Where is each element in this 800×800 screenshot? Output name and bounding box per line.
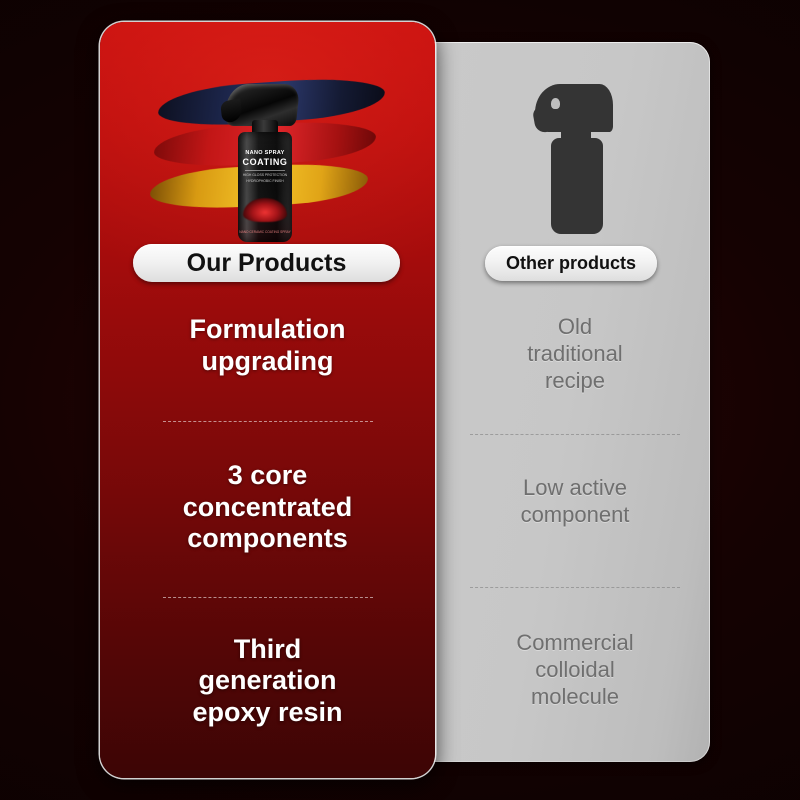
- bottle-car-graphic: [243, 198, 287, 222]
- other-feature-item-1: Old traditional recipe: [440, 314, 710, 394]
- bottle-body: NANO SPRAY COATING HIGH GLOSS PROTECTION…: [238, 132, 292, 242]
- bottle-label-line2: COATING: [238, 157, 292, 167]
- product-bottle-image: NANO SPRAY COATING HIGH GLOSS PROTECTION…: [234, 84, 296, 242]
- our-products-badge: Our Products: [133, 244, 400, 282]
- our-feature-item-2: 3 core concentrated components: [100, 460, 435, 555]
- our-feature-item-3: Third generation epoxy resin: [100, 634, 435, 729]
- our-feature-item-1: Formulation upgrading: [100, 314, 435, 377]
- bottle-label-line1: NANO SPRAY: [238, 150, 292, 156]
- our-feature-line: Formulation upgrading: [100, 314, 435, 377]
- spray-bottle-icon: [535, 84, 621, 234]
- product-hero: NANO SPRAY COATING HIGH GLOSS PROTECTION…: [100, 22, 435, 250]
- other-features-list: Old traditional recipe Low active compon…: [440, 314, 710, 711]
- our-features-list: Formulation upgrading 3 core concentrate…: [100, 314, 435, 729]
- other-feature-item-3: Commercial colloidal molecule: [440, 630, 710, 710]
- bottle-label-rule: [245, 170, 285, 171]
- other-feature-line: Commercial colloidal molecule: [440, 630, 710, 710]
- bottle-label-footer: NANO CERAMIC COATING SPRAY: [238, 230, 292, 234]
- other-feature-line: Low active component: [440, 475, 710, 529]
- other-feature-item-2: Low active component: [440, 475, 710, 529]
- other-feature-line: Old traditional recipe: [440, 314, 710, 394]
- bottle-label-sub: HIGH GLOSS PROTECTION HYDROPHOBIC FINISH: [238, 173, 292, 185]
- our-feature-line: 3 core concentrated components: [100, 460, 435, 555]
- spray-trigger-shape: [535, 84, 613, 132]
- our-feature-line: Third generation epoxy resin: [100, 634, 435, 729]
- spray-body-shape: [551, 138, 603, 234]
- our-products-card: NANO SPRAY COATING HIGH GLOSS PROTECTION…: [100, 22, 435, 778]
- other-products-badge: Other products: [485, 246, 657, 281]
